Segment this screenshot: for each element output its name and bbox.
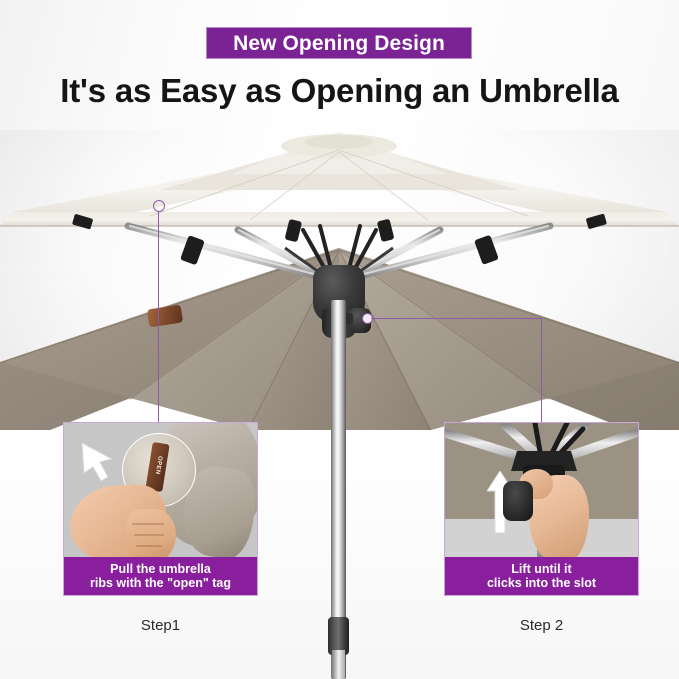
umbrella-product-photo [0, 130, 679, 679]
callout-line-step-1 [158, 211, 159, 423]
step-2-panel: Lift until it clicks into the slot [444, 422, 639, 596]
step-1-caption-line-2: ribs with the "open" tag [90, 576, 231, 590]
step-1-caption: Pull the umbrella ribs with the "open" t… [64, 557, 257, 595]
step-2-caption-line-1: Lift until it [511, 562, 571, 576]
step-2-caption: Lift until it clicks into the slot [445, 557, 638, 595]
step-1-photo: OPEN [64, 423, 257, 559]
hub-slider-grip [503, 481, 533, 521]
infographic-canvas: New Opening Design It's as Easy as Openi… [0, 0, 679, 679]
step-2-caption-line-2: clicks into the slot [487, 576, 596, 590]
callout-line-step-2-horizontal [371, 318, 542, 319]
pull-direction-arrow-icon [78, 437, 128, 487]
step-1-caption-line-1: Pull the umbrella [110, 562, 211, 576]
step-1-label: Step1 [63, 617, 258, 634]
badge-label: New Opening Design [233, 33, 445, 54]
step-1-panel: OPEN Pull the umbrella ribs with the "op… [63, 422, 258, 596]
step-2-label: Step 2 [444, 617, 639, 634]
hand-fingers [126, 509, 176, 563]
page-title: It's as Easy as Opening an Umbrella [0, 72, 679, 110]
new-opening-design-badge: New Opening Design [206, 27, 472, 59]
open-tag: OPEN [145, 442, 169, 492]
callout-line-step-2-vertical [541, 318, 542, 423]
open-tag-text: OPEN [153, 449, 164, 482]
pole-lower-section [332, 650, 345, 679]
